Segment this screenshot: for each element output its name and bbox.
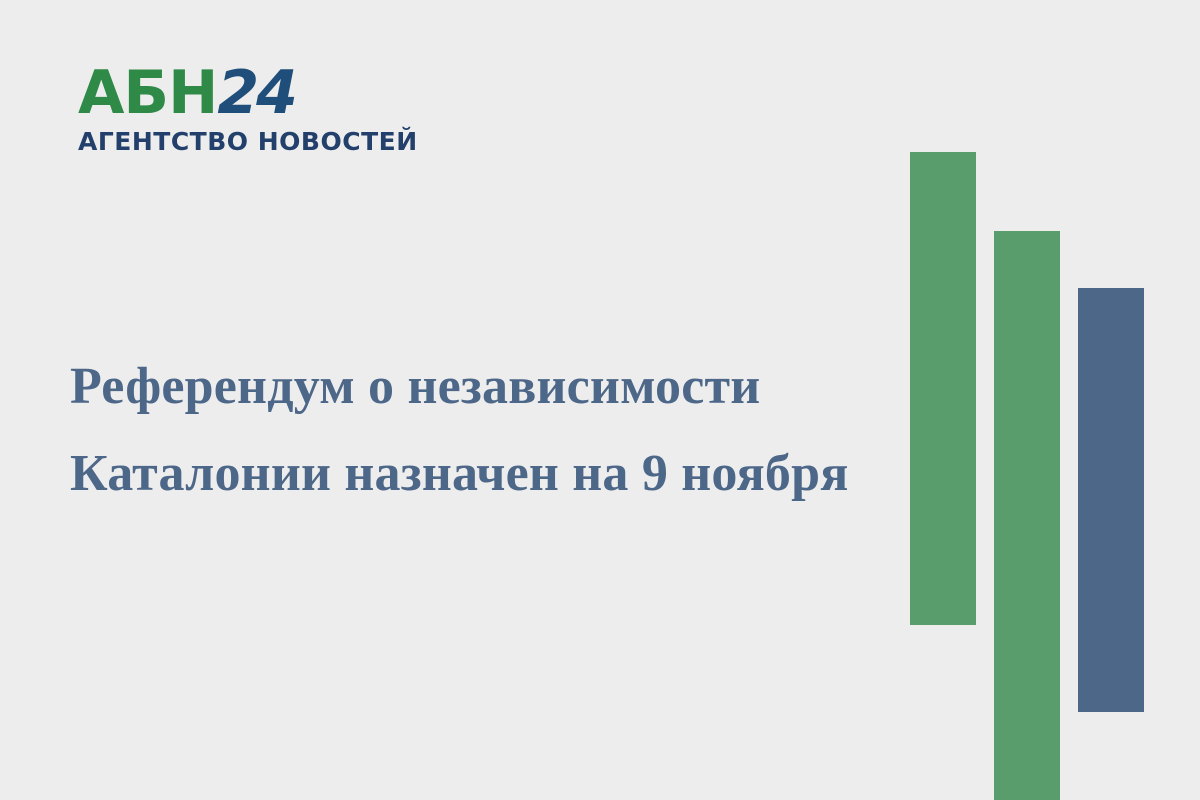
news-card: АБН24 АГЕНТСТВО НОВОСТЕЙ Референдум о не… [0,0,1200,800]
chart-bar-2 [994,231,1060,800]
logo-wordmark-primary: АБН [78,58,217,128]
logo-tagline: АГЕНТСТВО НОВОСТЕЙ [78,128,378,156]
abn24-logo[interactable]: АБН24 АГЕНТСТВО НОВОСТЕЙ [78,62,378,158]
chart-bar-3 [1078,288,1144,712]
page-title: Референдум о независимости Каталонии наз… [70,343,870,517]
logo-wordmark-secondary: 24 [217,58,295,128]
chart-bar-1 [910,152,976,625]
logo-wordmark: АБН24 [78,62,378,124]
